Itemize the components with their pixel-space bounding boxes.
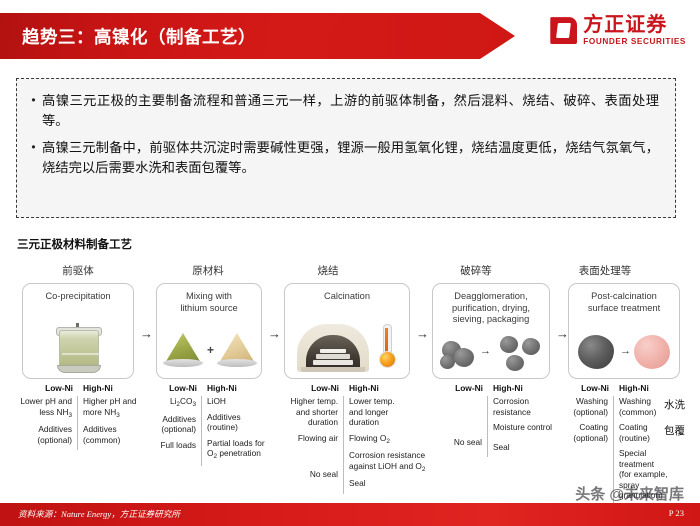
column-header-high-ni: High-Ni [488,383,523,393]
column-header-low-ni: Low-Ni [16,383,78,393]
founder-securities-logo: 方正证券 FOUNDER SECURITIES [550,15,686,46]
low-ni-item: No seal [284,469,338,480]
stage-label-precursor: 前驱体 [62,263,94,278]
reactor-vessel-icon [56,323,100,373]
annotation-coating: 包覆 [664,423,685,438]
transform-arrow-icon: → [620,346,631,357]
column-header-high-ni: High-Ni [78,383,113,393]
high-ni-item: Moisture control [493,422,558,433]
plus-sign: + [207,343,214,357]
column-header-low-ni: Low-Ni [440,383,488,393]
logo-mark-icon [550,17,577,44]
low-ni-item: Flowing air [284,433,338,444]
card-illustration: → [569,333,679,373]
logo-english-name: FOUNDER SECURITIES [583,38,686,46]
process-card-surface-treatment: Post-calcination surface treatment → [568,283,680,379]
stage-label-surface-treatment: 表面处理等 [579,263,632,278]
process-stage-labels: 前驱体 原材料 烧结 破碎等 表面处理等 [16,263,680,279]
high-ni-item: Partial loads forO2 penetration [207,438,276,461]
powder-cones-icon: + [161,325,257,371]
card-illustration [23,319,133,373]
watermark-text: 头条 @未来智库 [575,483,684,504]
high-ni-item: Corrosionresistance [493,396,558,417]
comparison-column-raw-material: Low-Ni High-Ni Li2CO3 Additives(optional… [150,383,276,466]
process-card-coprecipitation: Co-precipitation [22,283,134,379]
card-heading: Mixing with lithium source [157,291,261,314]
high-ni-item: Corrosion resistanceagainst LiOH and O2 [349,450,434,473]
comparison-column-precursor: Low-Ni High-Ni Lower pH andless NH3 Addi… [16,383,144,450]
flow-arrow-icon: → [416,327,429,340]
column-header-low-ni: Low-Ni [284,383,344,393]
slide-footer: 资料来源：Nature Energy，方正证券研究所 P 23 [0,503,700,526]
stage-label-crushing: 破碎等 [460,263,492,278]
card-heading: Calcination [285,291,409,303]
comparison-column-calcination: Low-Ni High-Ni Higher temp.and shorterdu… [284,383,434,494]
stage-label-calcination: 烧结 [318,263,339,278]
slide-title: 趋势三：高镍化（制备工艺） [0,24,256,49]
low-ni-item: Additives(optional) [150,414,196,435]
bullet-marker-icon: • [27,91,40,110]
bullet-marker-icon: • [27,138,40,157]
low-ni-item: Lower pH andless NH3 [16,396,72,419]
low-ni-item: Li2CO3 [150,396,196,409]
low-ni-item: Full loads [150,440,196,451]
column-header-low-ni: Low-Ni [568,383,614,393]
high-ni-item: Flowing O2 [349,433,434,446]
low-ni-item: No seal [440,437,482,448]
low-ni-item: Higher temp.and shorterduration [284,396,338,428]
high-ni-item: Lower temp.and longerduration [349,396,434,428]
flow-arrow-icon: → [140,327,153,340]
figure-title: 三元正极材料制备工艺 [17,236,132,252]
coating-transform-icon: → [576,327,672,371]
comparison-column-crushing: Low-Ni High-Ni No seal Corrosionresistan… [440,383,558,457]
watermark: 头条 @未来智库 [575,483,684,504]
high-ni-item: Additives(routine) [207,412,276,433]
thermometer-icon [379,324,394,368]
summary-callout-box: • 高镍三元正极的主要制备流程和普通三元一样，上游的前驱体制备，然后混料、烧结、… [16,78,676,218]
bullet-item: • 高镍三元正极的主要制备流程和普通三元一样，上游的前驱体制备，然后混料、烧结、… [27,91,659,131]
low-ni-item: Washing(optional) [568,396,608,417]
column-header-high-ni: High-Ni [344,383,379,393]
bullet-text: 高镍三元正极的主要制备流程和普通三元一样，上游的前驱体制备，然后混料、烧结、破碎… [40,91,659,131]
card-illustration: + [157,319,261,373]
low-ni-item: Additives(optional) [16,424,72,445]
high-ni-item: Seal [349,478,434,489]
card-illustration [285,319,409,373]
process-flow-cards: Co-precipitation → Mixing with lithium s… [16,283,680,383]
process-card-deagglomeration: Deagglomeration, purification, drying, s… [432,283,550,379]
process-card-calcination: Calcination [284,283,410,379]
card-heading: Deagglomeration, purification, drying, s… [433,291,549,326]
column-header-high-ni: High-Ni [614,383,649,393]
transform-arrow-icon: → [480,346,491,357]
furnace-icon [297,322,397,372]
high-ni-item: Additives(common) [83,424,144,445]
card-heading: Post-calcination surface treatment [569,291,679,314]
low-ni-item: Coating(optional) [568,422,608,443]
slide-header: 趋势三：高镍化（制备工艺） 方正证券 FOUNDER SECURITIES [0,13,700,59]
low-ni-high-ni-comparison: Low-Ni High-Ni Lower pH andless NH3 Addi… [16,383,680,488]
card-illustration: → [433,333,549,373]
annotation-washing: 水洗 [664,397,685,412]
flow-arrow-icon: → [268,327,281,340]
column-header-low-ni: Low-Ni [150,383,202,393]
particle-splitting-icon: → [436,325,546,371]
bullet-text: 高镍三元制备中，前驱体共沉淀时需要碱性更强，锂源一般用氢氧化锂，烧结温度更低，烧… [40,138,659,178]
bullet-item: • 高镍三元制备中，前驱体共沉淀时需要碱性更强，锂源一般用氢氧化锂，烧结温度更低… [27,138,659,178]
stage-label-raw-material: 原材料 [192,263,224,278]
source-note: 资料来源：Nature Energy，方正证券研究所 [18,508,180,520]
high-ni-item: Higher pH andmore NH3 [83,396,144,419]
column-header-high-ni: High-Ni [202,383,237,393]
high-ni-item: Seal [493,442,558,453]
card-heading: Co-precipitation [23,291,133,303]
header-banner: 趋势三：高镍化（制备工艺） [0,13,515,59]
high-ni-item: LiOH [207,396,276,407]
logo-chinese-name: 方正证券 [583,15,686,35]
process-card-mixing: Mixing with lithium source + [156,283,262,379]
page-number: P 23 [669,508,684,518]
